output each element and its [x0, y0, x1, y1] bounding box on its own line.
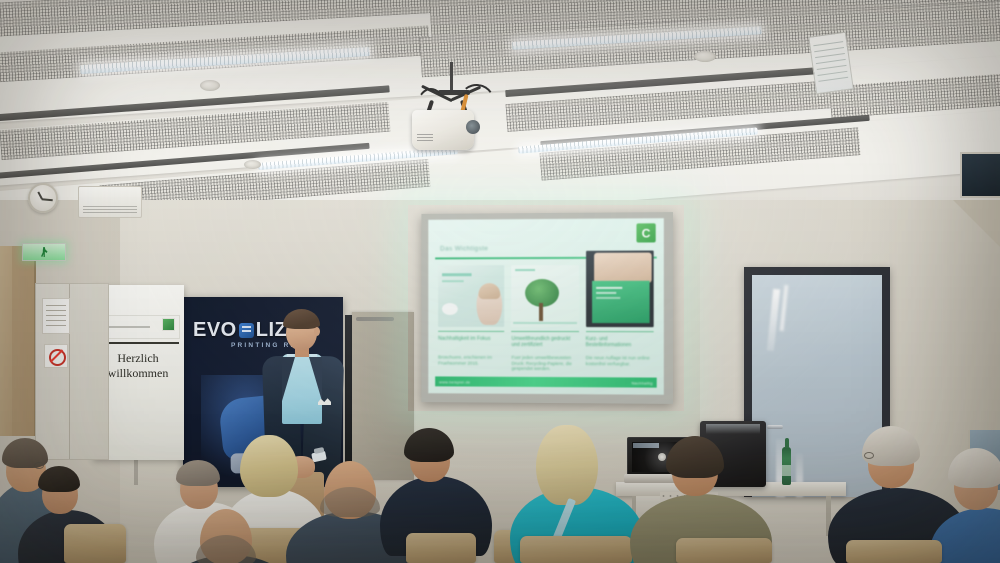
ceiling-notice-sign: [808, 32, 854, 95]
slide-column: Kurz- und Bestellinformationen Die neue …: [586, 263, 654, 376]
conference-room-photo: C Das Wichtigste Nachhaltigkeit im Fokus…: [0, 0, 1000, 563]
slide-column: Umweltfreundlich gedruckt und zertifizie…: [511, 263, 578, 375]
water-bottle: [782, 447, 791, 485]
audience-chair[interactable]: [520, 536, 632, 563]
laptop-brand-badge: [633, 443, 659, 448]
slide-footer-bar: www.beispiel.de Nachhaltig: [435, 376, 657, 387]
projector-body: [412, 110, 474, 150]
projected-slide: C Das Wichtigste Nachhaltigkeit im Fokus…: [428, 218, 664, 395]
slide-column-body: Fuer jeden umweltbewussten Druck: Recycl…: [511, 355, 578, 372]
emergency-exit-sign: [22, 243, 66, 261]
slide-footer-right: Nachhaltig: [631, 380, 652, 385]
wooden-door-edge: [0, 246, 12, 436]
presenter-hair: [283, 309, 320, 329]
presenter-lapel: [309, 357, 322, 401]
slide-column-heading: Nachhaltigkeit im Fokus: [438, 336, 504, 342]
flipchart-header-line: [104, 326, 150, 328]
slide-image-tree: [511, 265, 578, 327]
slide-column-divider: [511, 331, 578, 332]
ceiling-speaker-icon: [200, 80, 220, 91]
slide-column: Nachhaltigkeit im Fokus Broschuere, ersc…: [438, 263, 504, 375]
slide-image-brochure: [438, 265, 504, 327]
presenter-ear: [314, 327, 320, 336]
audience-hair: [240, 435, 298, 497]
wall-cabinet[interactable]: [35, 283, 109, 460]
laptop-screen-glare-icon: [658, 453, 666, 461]
audience-chair[interactable]: [64, 524, 126, 563]
projector-mount-pole: [450, 62, 453, 92]
projector-lens-icon: [466, 120, 480, 134]
slide-column-divider: [586, 331, 654, 332]
slide-image-magazine: [586, 251, 654, 328]
audience-chair[interactable]: [846, 540, 942, 563]
projection-screen: C Das Wichtigste Nachhaltigkeit im Fokus…: [421, 212, 673, 404]
ceiling-speaker-icon: [244, 160, 261, 169]
ceiling-projector: [398, 62, 518, 157]
banner-brand-part1: EVO: [193, 319, 237, 342]
upper-window: [960, 152, 1000, 198]
glass-door-panel: [752, 275, 882, 497]
door-handle[interactable]: [767, 425, 783, 429]
ceiling-speaker-icon: [694, 51, 716, 62]
clock-minute-hand-icon: [42, 198, 53, 200]
bottle-label: [782, 465, 791, 476]
flipchart-separator: [97, 342, 179, 344]
slide-column-heading: Umweltfreundlich gedruckt und zertifizie…: [511, 336, 578, 348]
air-conditioning-unit: [78, 186, 142, 218]
slide-columns: Nachhaltigkeit im Fokus Broschuere, ersc…: [438, 263, 654, 376]
running-man-icon: [41, 247, 48, 257]
presenter-lapel: [282, 357, 295, 401]
wall-clock: [28, 183, 58, 213]
audience-chair[interactable]: [676, 538, 772, 563]
cabinet-notice-paper: [42, 298, 70, 334]
slide-column-heading: Kurz- und Bestellinformationen: [586, 336, 654, 348]
eyeglasses-icon: [864, 452, 874, 459]
slide-title: Das Wichtigste: [440, 245, 488, 252]
glass-reflection: [780, 285, 789, 331]
slide-column-body: Broschuere, erschienen im Fruehsommer 20…: [438, 355, 504, 366]
audience-chair[interactable]: [406, 533, 476, 563]
wall-panel-rail: [356, 317, 394, 321]
projector-vent-icon: [417, 132, 433, 141]
no-smoking-sign-icon: [44, 344, 68, 368]
slide-column-body: Die neue Auflage ist nun online kostenfr…: [586, 355, 654, 367]
eyeglasses-icon: [34, 462, 44, 469]
glass-reflection: [767, 289, 780, 351]
slide-footer-left: www.beispiel.de: [439, 379, 470, 384]
slide-brand-logo-icon: C: [636, 223, 655, 242]
audience-hair: [536, 425, 598, 505]
flipchart-logo-icon: [162, 318, 175, 331]
slide-column-divider: [438, 331, 504, 332]
